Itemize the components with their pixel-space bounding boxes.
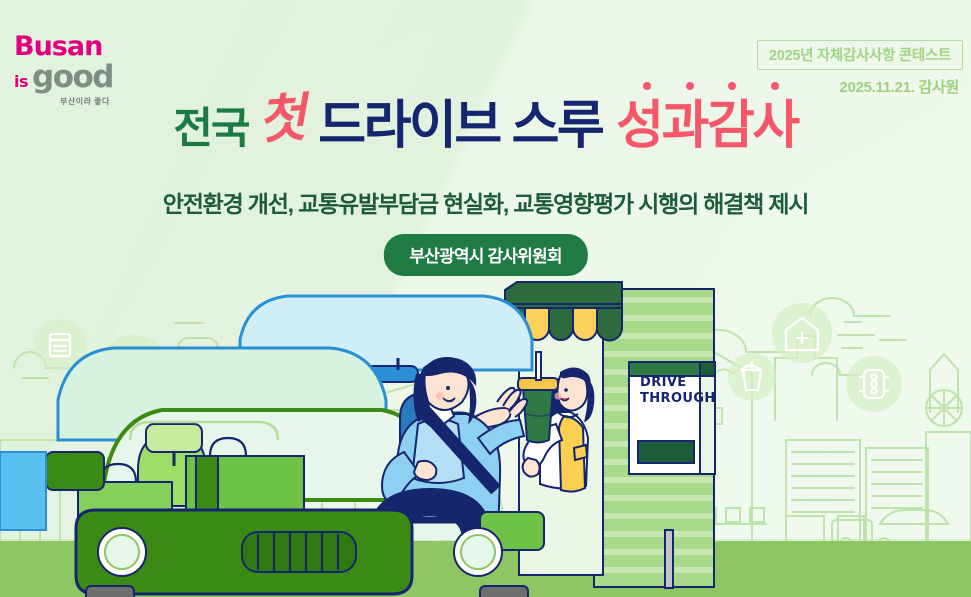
bg-icon-badges xyxy=(34,303,902,434)
sign-line-2: THROUGH xyxy=(640,391,710,407)
customer-hand xyxy=(444,388,527,441)
title-dot xyxy=(771,82,779,90)
title-part-drive-through: 드라이브 스루 xyxy=(318,100,602,152)
drive-through-sign-text: DRIVE THROUGH xyxy=(640,375,710,408)
logo-busan-text: Busan xyxy=(14,33,194,60)
title-dot xyxy=(643,82,651,90)
store-awning xyxy=(505,282,622,341)
store-clerk xyxy=(523,367,595,491)
ground-strip xyxy=(0,541,971,597)
title-dot xyxy=(728,82,736,90)
page-subtitle: 안전환경 개선, 교통유발부담금 현실화, 교통영향평가 시행의 해결책 제시 xyxy=(0,185,971,219)
contest-badge: 2025년 자체감사사항 콘테스트 xyxy=(757,40,963,70)
logo-is-text: is xyxy=(14,72,28,91)
busan-is-good-logo: Busan isgood 부산이라 좋다 xyxy=(14,33,194,107)
slide-canvas: Busan isgood 부산이라 좋다 2025년 자체감사사항 콘테스트 2… xyxy=(0,0,971,597)
car-roof-layers xyxy=(58,296,532,450)
title-dot xyxy=(686,82,694,90)
drink-cup xyxy=(518,352,558,443)
logo-good-text: good xyxy=(32,59,113,95)
title-emphasis-dots xyxy=(620,82,801,90)
sign-line-1: DRIVE xyxy=(640,375,710,391)
title-part-performance-audit: 성과감사 xyxy=(616,100,797,152)
service-window xyxy=(519,330,603,575)
organization-badge: 부산광역시 감사위원회 xyxy=(383,234,587,276)
title-part-first-brush: 첫 xyxy=(257,92,306,147)
page-title: 전국첫드라이브 스루성과감사 xyxy=(0,100,971,152)
title-part-nationwide: 전국 xyxy=(173,108,248,151)
title-part-audit-wrap: 성과감사 xyxy=(616,100,797,152)
